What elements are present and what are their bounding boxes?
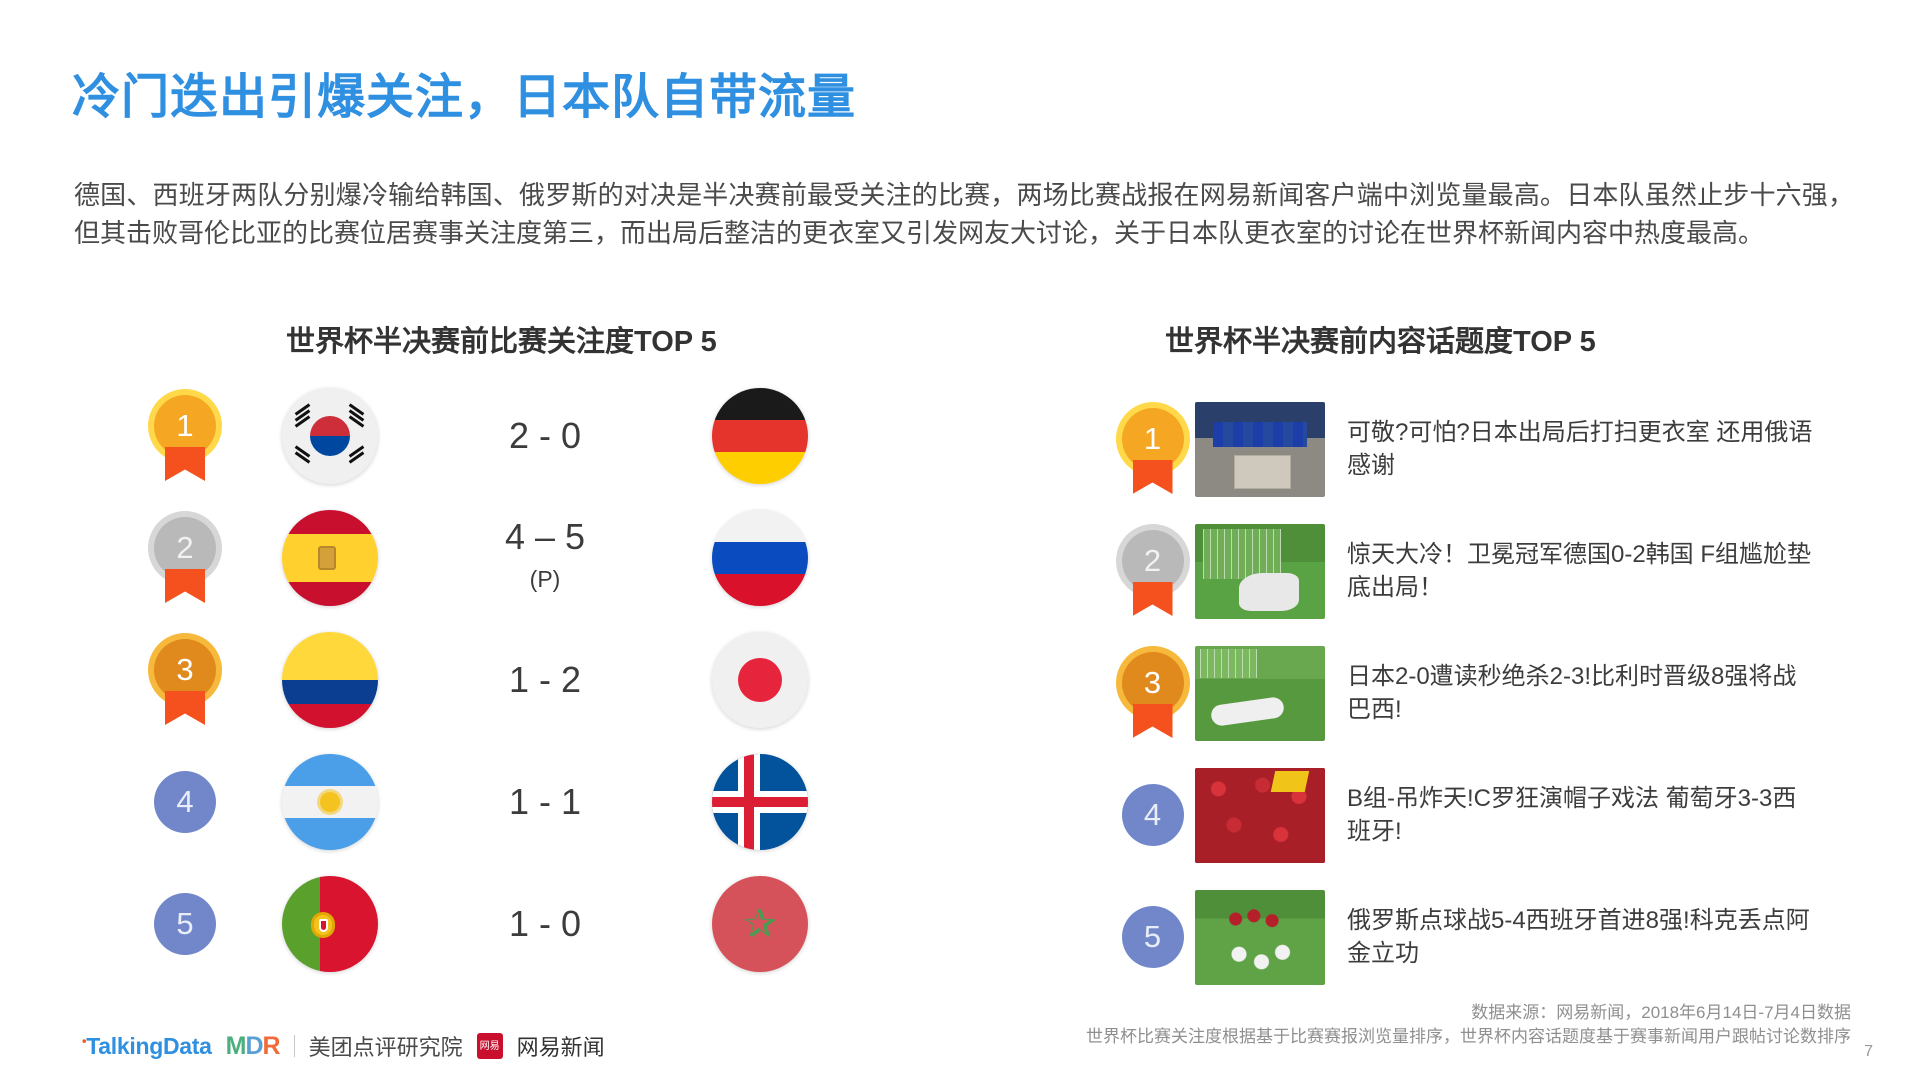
colombia-flag-icon [282, 632, 378, 728]
meituan-research-logo-text: 美团点评研究院 [309, 1030, 463, 1062]
score-cell: 1 - 2 [420, 660, 670, 700]
ribbon-shape [165, 447, 205, 481]
rank-number: 4 [1144, 797, 1161, 833]
morocco-flag-icon: ✰ [712, 876, 808, 972]
ribbon-shape [165, 569, 205, 603]
home-flag-cell [240, 632, 420, 728]
flag-stripe [712, 420, 808, 452]
rank-number: 5 [1144, 919, 1161, 955]
flag-stripe [282, 818, 378, 850]
netease-badge-icon: 网易 [477, 1033, 503, 1059]
source-note-line-2: 世界杯比赛关注度根据基于比赛赛报浏览量排序，世界杯内容话题度基于赛事新闻用户跟帖… [1086, 1022, 1851, 1047]
red-crowd-photo [1195, 768, 1325, 863]
argentina-flag-icon [282, 754, 378, 850]
score-value: 1 - 0 [509, 903, 581, 944]
flag-stripe [712, 452, 808, 484]
section-title-match-attention: 世界杯半决赛前比赛关注度TOP 5 [286, 318, 717, 360]
content-topic-list: 1 可敬?可怕?日本出局后打扫更衣室 还用俄语感谢 2 惊天大冷！卫冕冠军德国0… [1110, 388, 1870, 998]
germany-flag-icon [712, 388, 808, 484]
away-flag-cell: ✰ [670, 876, 850, 972]
lede-paragraph: 德国、西班牙两队分别爆冷输给韩国、俄罗斯的对决是半决赛前最受关注的比赛，两场比赛… [74, 176, 1854, 252]
flag-stripe [712, 542, 808, 574]
flag-stripe [282, 704, 378, 728]
away-flag-cell [670, 510, 850, 606]
rank-number: 4 [176, 784, 193, 820]
logo-divider [294, 1035, 295, 1057]
ribbon-shape [1133, 704, 1173, 738]
news-title[interactable]: B组-吊炸天!C罗狂演帽子戏法 葡萄牙3-3西班牙! [1347, 782, 1817, 848]
rank-cell: 4 [130, 771, 240, 833]
coat-of-arms-icon [318, 546, 336, 570]
pentagram-icon: ✰ [743, 904, 777, 944]
away-flag-cell [670, 754, 850, 850]
home-flag-cell [240, 388, 420, 484]
japan-flag-icon [712, 632, 808, 728]
flag-cross-red [712, 797, 808, 807]
sun-disc [738, 658, 782, 702]
page-title: 冷门迭出引爆关注，日本队自带流量 [72, 57, 856, 127]
away-flag-cell [670, 632, 850, 728]
score-value: 4 – 5 [505, 516, 585, 557]
flag-stripe [282, 680, 378, 704]
away-flag-cell [670, 388, 850, 484]
match-row: 1 2 - 0 [130, 375, 1030, 497]
iceland-flag-icon [712, 754, 808, 850]
team-celebration-photo [1195, 890, 1325, 985]
korea-flag-icon [282, 388, 378, 484]
news-title[interactable]: 俄罗斯点球战5-4西班牙首进8强!科克丢点阿金立功 [1347, 904, 1817, 970]
flag-stripe [282, 632, 378, 680]
score-cell: 1 - 1 [420, 782, 670, 822]
rank-cell: 5 [130, 893, 240, 955]
score-value: 1 - 2 [509, 659, 581, 700]
plain-rank-icon: 4 [1122, 784, 1184, 846]
flag-stripe [712, 574, 808, 606]
talkingdata-logo: •TalkingData [82, 1033, 212, 1060]
score-value: 2 - 0 [509, 415, 581, 456]
netease-news-logo-text: 网易新闻 [517, 1030, 605, 1062]
rank-cell: 1 [1110, 408, 1195, 490]
ribbon-shape [1133, 460, 1173, 494]
rank-cell: 4 [1110, 784, 1195, 846]
home-flag-cell [240, 510, 420, 606]
mdr-logo: MDR [226, 1032, 280, 1061]
ribbon-shape [1133, 582, 1173, 616]
players-on-ground-photo [1195, 646, 1325, 741]
talkingdata-logo-text: TalkingData [86, 1033, 211, 1059]
flag-stripe [282, 582, 378, 606]
flag-stripe [712, 388, 808, 420]
silver-medal-icon: 2 [154, 517, 216, 599]
russia-flag-icon [712, 510, 808, 606]
news-row[interactable]: 1 可敬?可怕?日本出局后打扫更衣室 还用俄语感谢 [1110, 388, 1870, 510]
source-note-line-1: 数据来源：网易新闻，2018年6月14日-7月4日数据 [1471, 998, 1851, 1023]
match-row: 4 1 - 1 [130, 741, 1030, 863]
news-title[interactable]: 日本2-0遭读秒绝杀2-3!比利时晋级8强将战巴西! [1347, 660, 1817, 726]
home-flag-cell [240, 754, 420, 850]
match-row: 3 1 - 2 [130, 619, 1030, 741]
page-number: 7 [1864, 1043, 1873, 1061]
news-row[interactable]: 5 俄罗斯点球战5-4西班牙首进8强!科克丢点阿金立功 [1110, 876, 1870, 998]
score-cell: 2 - 0 [420, 416, 670, 456]
gold-medal-icon: 1 [1122, 408, 1184, 490]
flag-stripe [282, 754, 378, 786]
plain-rank-icon: 5 [1122, 906, 1184, 968]
rank-number: 5 [176, 906, 193, 942]
ribbon-shape [165, 691, 205, 725]
match-row: 2 4 – 5 (P) [130, 497, 1030, 619]
score-cell: 4 – 5 (P) [420, 517, 670, 599]
section-title-content-topic: 世界杯半决赛前内容话题度TOP 5 [1165, 318, 1596, 360]
portugal-flag-icon [282, 876, 378, 972]
rank-cell: 2 [130, 517, 240, 599]
news-title[interactable]: 可敬?可怕?日本出局后打扫更衣室 还用俄语感谢 [1347, 416, 1817, 482]
rank-cell: 5 [1110, 906, 1195, 968]
match-attention-list: 1 2 - 0 [130, 375, 1030, 985]
news-row[interactable]: 3 日本2-0遭读秒绝杀2-3!比利时晋级8强将战巴西! [1110, 632, 1870, 754]
match-row: 5 1 - 0 ✰ [130, 863, 1030, 985]
rank-cell: 1 [130, 395, 240, 477]
spain-flag-icon [282, 510, 378, 606]
score-note: (P) [420, 559, 670, 599]
score-value: 1 - 1 [509, 781, 581, 822]
rank-cell: 3 [130, 639, 240, 721]
score-cell: 1 - 0 [420, 904, 670, 944]
logo-bar: •TalkingData MDR 美团点评研究院 网易 网易新闻 [82, 1030, 605, 1062]
bronze-medal-icon: 3 [1122, 652, 1184, 734]
news-row[interactable]: 4 B组-吊炸天!C罗狂演帽子戏法 葡萄牙3-3西班牙! [1110, 754, 1870, 876]
flag-stripe [712, 510, 808, 542]
locker-room-photo [1195, 402, 1325, 497]
goal-save-photo [1195, 524, 1325, 619]
flag-stripe [282, 510, 378, 534]
rank-cell: 3 [1110, 652, 1195, 734]
portugal-emblem-icon [311, 912, 335, 938]
news-title[interactable]: 惊天大冷！卫冕冠军德国0-2韩国 F组尴尬垫底出局！ [1347, 538, 1817, 604]
silver-medal-icon: 2 [1122, 530, 1184, 612]
rank-cell: 2 [1110, 530, 1195, 612]
sun-of-may-icon [320, 792, 340, 812]
plain-rank-icon: 5 [154, 893, 216, 955]
taeguk-circle [310, 416, 350, 456]
home-flag-cell [240, 876, 420, 972]
gold-medal-icon: 1 [154, 395, 216, 477]
news-row[interactable]: 2 惊天大冷！卫冕冠军德国0-2韩国 F组尴尬垫底出局！ [1110, 510, 1870, 632]
plain-rank-icon: 4 [154, 771, 216, 833]
bronze-medal-icon: 3 [154, 639, 216, 721]
